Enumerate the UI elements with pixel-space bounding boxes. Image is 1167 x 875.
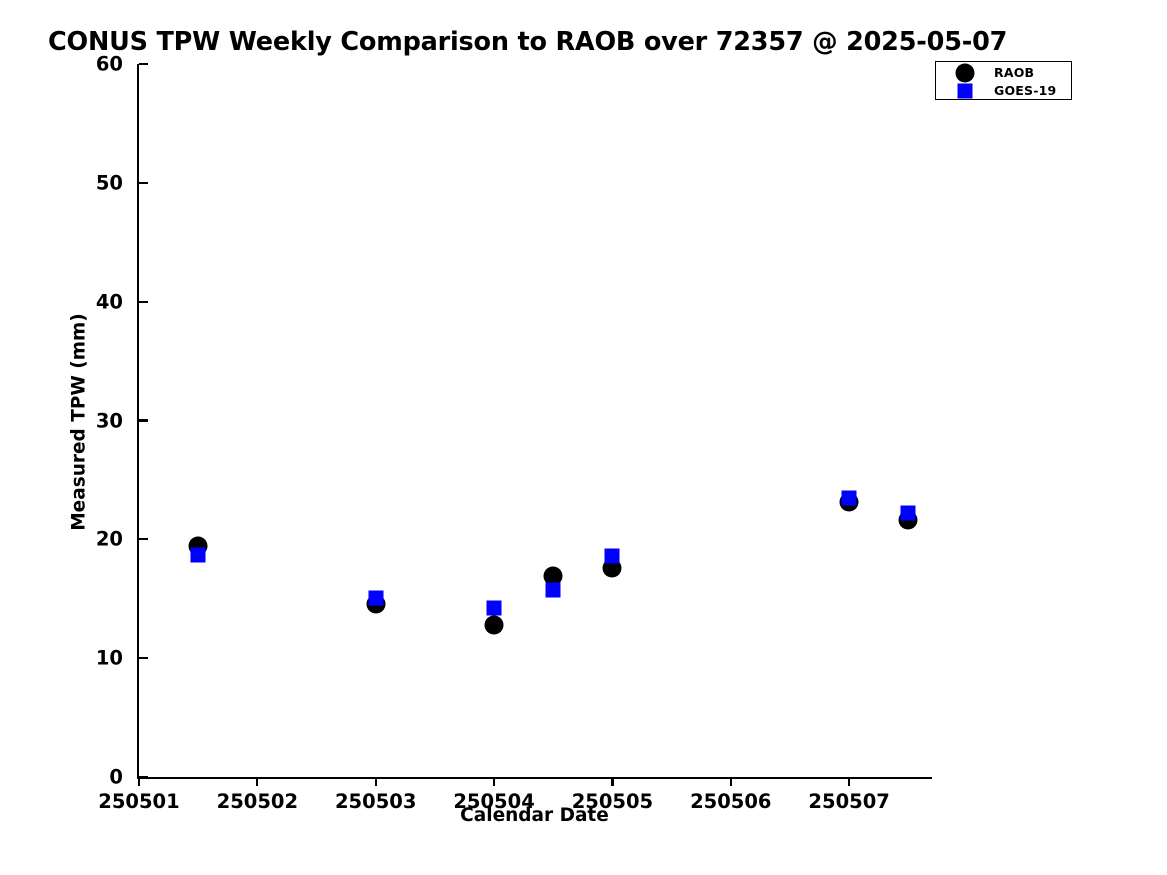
y-tick-label: 30	[96, 409, 123, 432]
data-point-goes-19	[368, 590, 383, 605]
x-tick-mark	[375, 777, 377, 786]
x-axis-label: Calendar Date	[137, 805, 932, 826]
x-tick-mark	[730, 777, 732, 786]
data-point-goes-19	[546, 583, 561, 598]
x-tick-mark	[256, 777, 258, 786]
x-tick-mark	[611, 777, 613, 786]
y-tick-label: 0	[109, 766, 123, 789]
data-point-goes-19	[842, 490, 857, 505]
data-point-goes-19	[605, 548, 620, 563]
plot-area: 0102030405060 25050125050225050325050425…	[137, 64, 932, 779]
legend-marker-square-icon	[936, 81, 994, 100]
data-point-goes-19	[487, 601, 502, 616]
legend-swatch-glyph	[956, 63, 975, 82]
chart-legend: RAOBGOES-19	[935, 61, 1072, 100]
y-axis-label: Measured TPW (mm)	[69, 313, 90, 530]
data-point-goes-19	[191, 547, 206, 562]
scatter-data-layer	[139, 64, 932, 777]
legend-entry-raob: RAOB	[936, 63, 1071, 82]
data-point-goes-19	[901, 506, 916, 521]
x-tick-mark	[493, 777, 495, 786]
x-tick-mark	[848, 777, 850, 786]
legend-marker-circle-icon	[936, 63, 994, 82]
legend-swatch-glyph	[958, 83, 973, 98]
legend-label: RAOB	[994, 65, 1034, 80]
y-tick-label: 60	[96, 53, 123, 76]
legend-label: GOES-19	[994, 83, 1056, 98]
y-tick-label: 20	[96, 528, 123, 551]
chart-figure: CONUS TPW Weekly Comparison to RAOB over…	[0, 0, 1167, 875]
legend-entry-goes-19: GOES-19	[936, 81, 1071, 100]
x-tick-mark	[138, 777, 140, 786]
y-tick-label: 40	[96, 290, 123, 313]
data-point-raob	[485, 615, 504, 634]
y-tick-label: 50	[96, 171, 123, 194]
chart-title: CONUS TPW Weekly Comparison to RAOB over…	[48, 27, 1007, 57]
y-tick-label: 10	[96, 647, 123, 670]
